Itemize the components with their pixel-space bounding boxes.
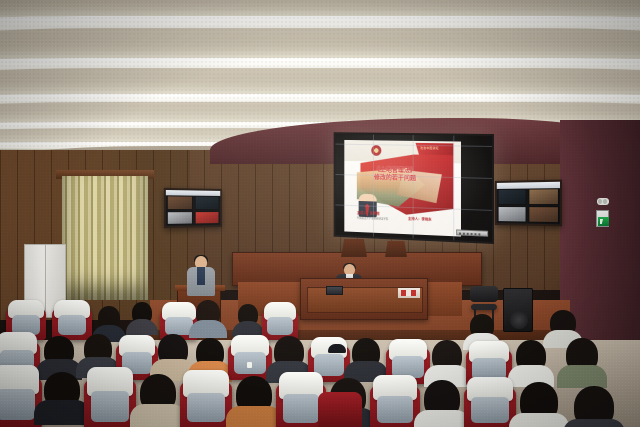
black-cap <box>328 344 346 353</box>
audience-member <box>238 304 258 326</box>
laptop-on-bench[interactable] <box>326 286 343 295</box>
audience-member <box>520 382 558 422</box>
right-wall-monitor[interactable]: 远程视频会议 <box>495 180 562 227</box>
led-video-wall[interactable]: 法治中国讲坛 《土地管理法》 修改的若干问题 主讲人：张明楷 主持人：李晓东 中… <box>334 132 494 244</box>
audience-member <box>84 334 112 364</box>
slide-host-left: 主讲人：张明楷 <box>357 211 380 217</box>
emergency-light-icon <box>597 198 609 205</box>
audience-member <box>432 340 462 372</box>
gold-curtain <box>62 176 148 300</box>
foreground-chair <box>318 392 362 427</box>
audience-member <box>516 340 546 372</box>
slide-footnote: 中国政法大学 民商经济法学院 <box>357 217 399 222</box>
audience-member <box>566 338 598 372</box>
audience-member <box>424 380 460 418</box>
left-wall-monitor[interactable]: 远程视频会议 <box>164 188 222 228</box>
bench-crest-left <box>341 239 367 257</box>
presentation-slide: 法治中国讲坛 《土地管理法》 修改的若干问题 主讲人：张明楷 主持人：李晓东 中… <box>344 140 461 237</box>
exit-green-panel <box>598 217 609 226</box>
audience-member <box>274 336 304 368</box>
slide-host-right: 主持人：李晓东 <box>408 217 432 223</box>
seat[interactable] <box>180 382 232 427</box>
audience-member <box>158 334 188 366</box>
audience-member <box>140 374 176 412</box>
slide-title: 《土地管理法》 修改的若干问题 <box>374 166 452 184</box>
audience-member <box>44 372 80 408</box>
audience-member <box>132 302 152 324</box>
audience-member <box>574 386 614 427</box>
seat[interactable] <box>464 388 516 427</box>
document-stand <box>398 288 420 298</box>
audience-member <box>352 338 380 368</box>
presenter-shirt <box>197 267 205 285</box>
audience-member <box>44 336 74 366</box>
seat[interactable] <box>84 380 136 427</box>
emergency-exit-sign <box>596 210 609 227</box>
standing-presenter <box>186 256 216 296</box>
audience-member <box>196 300 220 326</box>
national-emblem-icon <box>371 145 381 156</box>
audience-member <box>236 376 272 414</box>
seat[interactable] <box>370 386 420 427</box>
lecture-hall-photo: 法治中国讲坛 《土地管理法》 修改的若干问题 主讲人：张明楷 主持人：李晓东 中… <box>0 0 640 427</box>
slide-banner-text: 法治中国讲坛 <box>420 146 439 150</box>
bench-crest-right <box>385 241 407 257</box>
audience-member <box>196 338 224 368</box>
audience-member <box>98 306 120 330</box>
slide-banner: 法治中国讲坛 <box>415 143 453 156</box>
